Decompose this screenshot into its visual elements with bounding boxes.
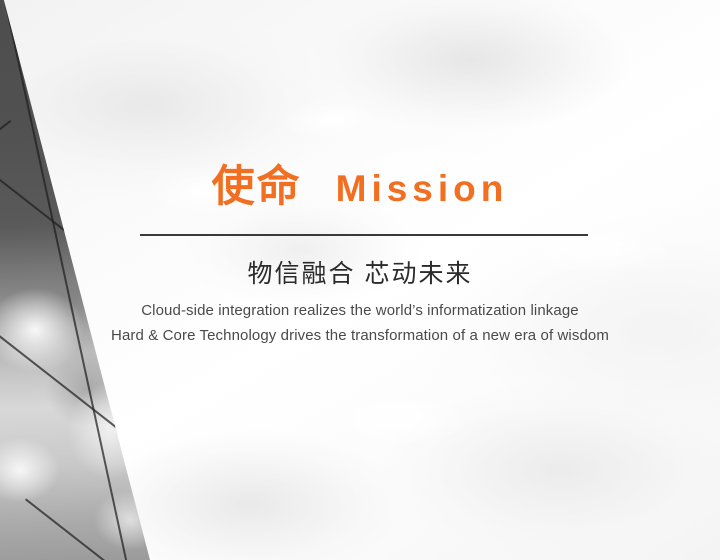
mullion-diagonal-d [0, 120, 11, 386]
mission-banner: 使命Mission 物信融合 芯动未来 Cloud-side integrati… [0, 0, 720, 560]
